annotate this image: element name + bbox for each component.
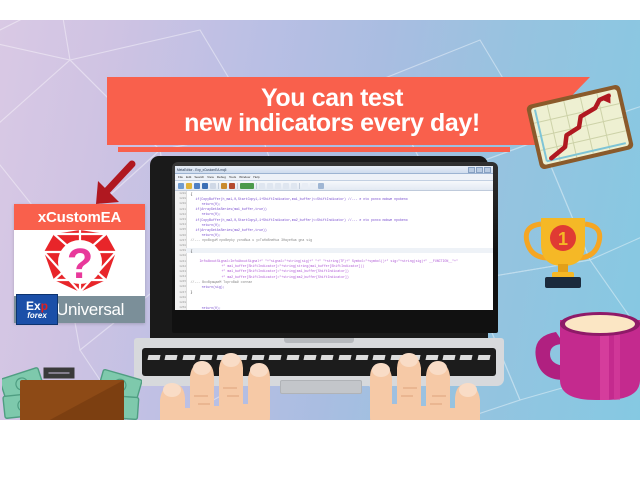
- code-text: if(ArrayGetAsSeries(ma2_buffer,true)): [188, 228, 267, 232]
- editor-titlebar: MetaEditor - Exp_xCustomEA.mq5: [175, 166, 493, 174]
- line-number: 1246: [175, 285, 188, 288]
- coffee-mug: [534, 302, 640, 400]
- letterbox-top: [0, 0, 640, 20]
- compile-button[interactable]: [240, 183, 254, 189]
- line-number: 1235: [175, 228, 188, 231]
- search-icon[interactable]: [302, 183, 308, 189]
- line-number: 1230: [175, 202, 188, 205]
- banner-line-2: new indicators every day!: [184, 111, 480, 137]
- logo-title: xCustomEA: [14, 204, 145, 230]
- code-text: return(sig);: [188, 285, 225, 289]
- code-text: return(0);: [188, 212, 221, 216]
- code-text: {: [188, 192, 193, 196]
- code-text: return(0);: [188, 306, 221, 310]
- line-number: 1244: [175, 275, 188, 278]
- menu-tools[interactable]: Tools: [229, 175, 236, 179]
- properties-icon[interactable]: [310, 183, 316, 189]
- line-number: 1240: [175, 254, 188, 257]
- code-text: return(0);: [188, 223, 221, 227]
- code-line[interactable]: 1250return(0);: [175, 305, 493, 310]
- line-number: 1250: [175, 306, 188, 309]
- line-number: 1228: [175, 192, 188, 195]
- svg-text:?: ?: [67, 240, 93, 288]
- artwork-canvas: You can test new indicators every day! x…: [0, 20, 640, 420]
- debug-start-icon[interactable]: [259, 183, 265, 189]
- trophy-icon: 1: [521, 208, 605, 292]
- xcustomea-logo-card[interactable]: xCustomEA ? Exp forex Un: [14, 204, 145, 323]
- badge-forex-text: forex: [27, 312, 47, 320]
- menu-view[interactable]: View: [207, 175, 214, 179]
- redo-icon[interactable]: [229, 183, 235, 189]
- laptop-screen[interactable]: MetaEditor - Exp_xCustomEA.mq5 File Edit…: [175, 166, 493, 310]
- help-icon[interactable]: [318, 183, 324, 189]
- code-text: +" ma1_buffer[ShiftIndicator]="+string(m…: [188, 269, 349, 273]
- promo-image: You can test new indicators every day! x…: [0, 0, 640, 480]
- line-number: 1245: [175, 280, 188, 283]
- debug-stop-icon[interactable]: [275, 183, 281, 189]
- open-file-icon[interactable]: [186, 183, 192, 189]
- code-text: if(ArrayGetAsSeries(ma1_buffer,true)): [188, 207, 267, 211]
- line-number: 1238: [175, 244, 188, 247]
- banner-line-1: You can test: [261, 86, 403, 112]
- bookmark-icon[interactable]: [283, 183, 289, 189]
- save-icon[interactable]: [194, 183, 200, 189]
- debug-step-icon[interactable]: [267, 183, 273, 189]
- code-text: +" ma2_buffer[ShiftIndicator]="+string(m…: [188, 275, 349, 279]
- code-text: return(0);: [188, 233, 221, 237]
- toolbar-separator-4: [299, 183, 300, 189]
- undo-icon[interactable]: [221, 183, 227, 189]
- line-number: 1237: [175, 239, 188, 242]
- save-all-icon[interactable]: [202, 183, 208, 189]
- menu-edit[interactable]: Edit: [186, 175, 191, 179]
- line-number: 1236: [175, 234, 188, 237]
- editor-toolbar[interactable]: [175, 181, 493, 191]
- line-number: 1232: [175, 213, 188, 216]
- menu-search[interactable]: Search: [194, 175, 204, 179]
- new-file-icon[interactable]: [178, 183, 184, 189]
- navigator-icon[interactable]: [291, 183, 297, 189]
- menu-window[interactable]: Window: [239, 175, 250, 179]
- badge-exp-text: Exp: [26, 300, 48, 312]
- code-text: //--- npoBoguM npoBepky ycnoBua u ycTaHo…: [188, 238, 313, 242]
- line-number: 1241: [175, 260, 188, 263]
- banner-text: You can test new indicators every day!: [107, 77, 557, 145]
- banner-underline: [118, 147, 510, 152]
- print-icon[interactable]: [210, 183, 216, 189]
- toolbar-separator-3: [256, 183, 257, 189]
- expforex-badge: Exp forex: [16, 294, 58, 325]
- code-text: +" ma1_buffer[ShiftIndicator]="+string(s…: [188, 264, 365, 268]
- menu-debug[interactable]: Debug: [217, 175, 226, 179]
- menu-help[interactable]: Help: [253, 175, 259, 179]
- polygon-question-icon: ?: [14, 230, 145, 296]
- line-number: 1231: [175, 208, 188, 211]
- code-editor-area[interactable]: 1228{1229if(CopyBuffer(h_ma1,0,StartCopy…: [175, 191, 493, 310]
- menu-file[interactable]: File: [178, 175, 183, 179]
- letterbox-bottom: [0, 420, 640, 480]
- editor-menubar[interactable]: File Edit Search View Debug Tools Window…: [175, 174, 493, 181]
- code-text: //--- BoзBpaщaeM TopгoBый cигнaл: [188, 280, 253, 284]
- line-number: 1233: [175, 218, 188, 221]
- code-text: if(CopyBuffer(h_ma1,0,StartCopy1,1+Shift…: [188, 197, 408, 201]
- editor-window-title: MetaEditor - Exp_xCustomEA.mq5: [177, 168, 226, 172]
- pointer-arrow-icon: [88, 160, 138, 208]
- line-number: 1229: [175, 197, 188, 200]
- trophy-rank-label: 1: [558, 229, 568, 249]
- logo-subtitle: Universal: [56, 300, 124, 320]
- line-number: 1248: [175, 296, 188, 299]
- code-text: }: [188, 290, 193, 294]
- logo-emblem: ?: [14, 230, 145, 296]
- laptop-lid: MetaEditor - Exp_xCustomEA.mq5 File Edit…: [150, 156, 488, 342]
- code-text: InfoAboutSignal=InfoAboutSignal+" "+"sig…: [188, 259, 458, 263]
- briefcase-with-money: $ $ $ $: [2, 356, 142, 420]
- line-number: 1242: [175, 265, 188, 268]
- toolbar-separator-2: [237, 183, 238, 189]
- logo-footer: Exp forex Universal: [14, 296, 145, 323]
- code-text: {: [188, 249, 193, 253]
- headline-banner: You can test new indicators every day!: [107, 77, 590, 145]
- line-number: 1234: [175, 223, 188, 226]
- typing-hands: [150, 338, 490, 420]
- line-number: 1247: [175, 291, 188, 294]
- toolbar-separator: [218, 183, 219, 189]
- line-number: 1243: [175, 270, 188, 273]
- code-text: return(0);: [188, 202, 221, 206]
- line-number: 1249: [175, 301, 188, 304]
- line-number: 1239: [175, 249, 188, 252]
- code-text: if(CopyBuffer(h_ma2,0,StartCopy2,1+Shift…: [188, 218, 408, 222]
- window-controls[interactable]: [468, 167, 491, 173]
